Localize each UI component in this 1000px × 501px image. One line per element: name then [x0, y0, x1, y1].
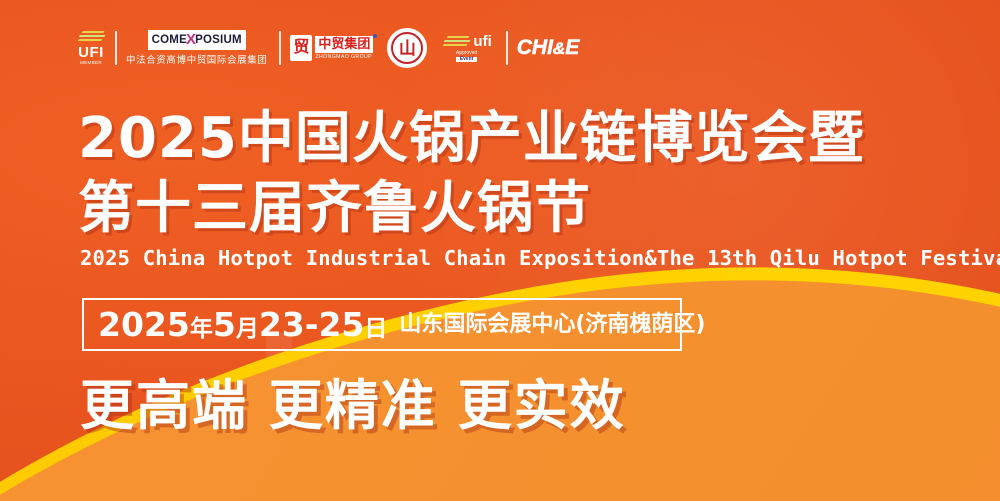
- date-days: 23-25: [259, 305, 365, 344]
- logo-ufi-member: UFI MEMBER: [76, 24, 106, 72]
- ufi-member-sub: MEMBER: [80, 61, 102, 66]
- logo-divider: [279, 31, 281, 65]
- event-subtitle-english: 2025 China Hotpot Industrial Chain Expos…: [80, 246, 1000, 270]
- event-venue: 山东国际会展中心(济南槐荫区): [399, 314, 705, 336]
- zhongmao-chinese-name: 中贸集团: [315, 36, 373, 53]
- organizer-logo-strip: UFI MEMBER COMEXPOSIUM 中法合资高博中贸国际会展集团 贸 …: [76, 24, 579, 72]
- ufi-approved-wing-icon: [441, 36, 471, 49]
- zhongmao-mark-icon: 贸: [290, 35, 312, 61]
- seal-icon: 山: [387, 28, 427, 68]
- logo-divider: [115, 31, 117, 65]
- chie-text-1: CHI: [517, 36, 553, 59]
- chie-text-2: E: [565, 36, 579, 59]
- event-title: 2025中国火锅产业链博览会暨 第十三届齐鲁火锅节: [78, 104, 865, 244]
- event-date: 2025年5月23-25日: [98, 308, 387, 341]
- zhongmao-english-name: ZHONGMAO GROUP: [315, 54, 373, 60]
- event-slogan: 更高端 更精准 更实效: [80, 378, 626, 435]
- date-month-unit: 月: [236, 316, 259, 342]
- comexposium-right: POSIUM: [195, 34, 242, 47]
- date-days-unit: 日: [364, 316, 387, 342]
- ufi-wing-icon: [76, 31, 106, 44]
- event-banner: UFI MEMBER COMEXPOSIUM 中法合资高博中贸国际会展集团 贸 …: [0, 0, 1000, 501]
- logo-ufi-approved-event: ufi Approved Event: [441, 24, 491, 72]
- chie-ampersand: &: [553, 39, 565, 58]
- logo-chie: CHI&E: [517, 24, 579, 72]
- comexposium-left: COME: [152, 34, 187, 47]
- date-venue-box: 2025年5月23-25日 山东国际会展中心(济南槐荫区): [82, 298, 682, 351]
- ufi-approved-sub2: Event: [456, 57, 477, 62]
- logo-comexposium: COMEXPOSIUM 中法合资高博中贸国际会展集团: [126, 24, 267, 72]
- logo-shandong-seal: 山: [387, 24, 427, 72]
- logo-divider: [506, 31, 508, 65]
- logo-zhongmao-group: 贸 中贸集团 ZHONGMAO GROUP: [290, 24, 373, 72]
- comexposium-chinese-name: 中法合资高博中贸国际会展集团: [126, 52, 267, 66]
- date-month: 5: [213, 305, 236, 344]
- ufi-member-name: UFI: [78, 45, 104, 60]
- event-title-line-2: 第十三届齐鲁火锅节: [78, 174, 865, 244]
- ufi-approved-sub1: Approved: [456, 50, 477, 56]
- ufi-approved-name: ufi: [473, 34, 491, 49]
- date-year: 2025: [98, 305, 190, 344]
- event-title-line-1: 2025中国火锅产业链博览会暨: [78, 104, 865, 174]
- date-year-unit: 年: [190, 316, 213, 342]
- seal-glyph: 山: [399, 40, 416, 57]
